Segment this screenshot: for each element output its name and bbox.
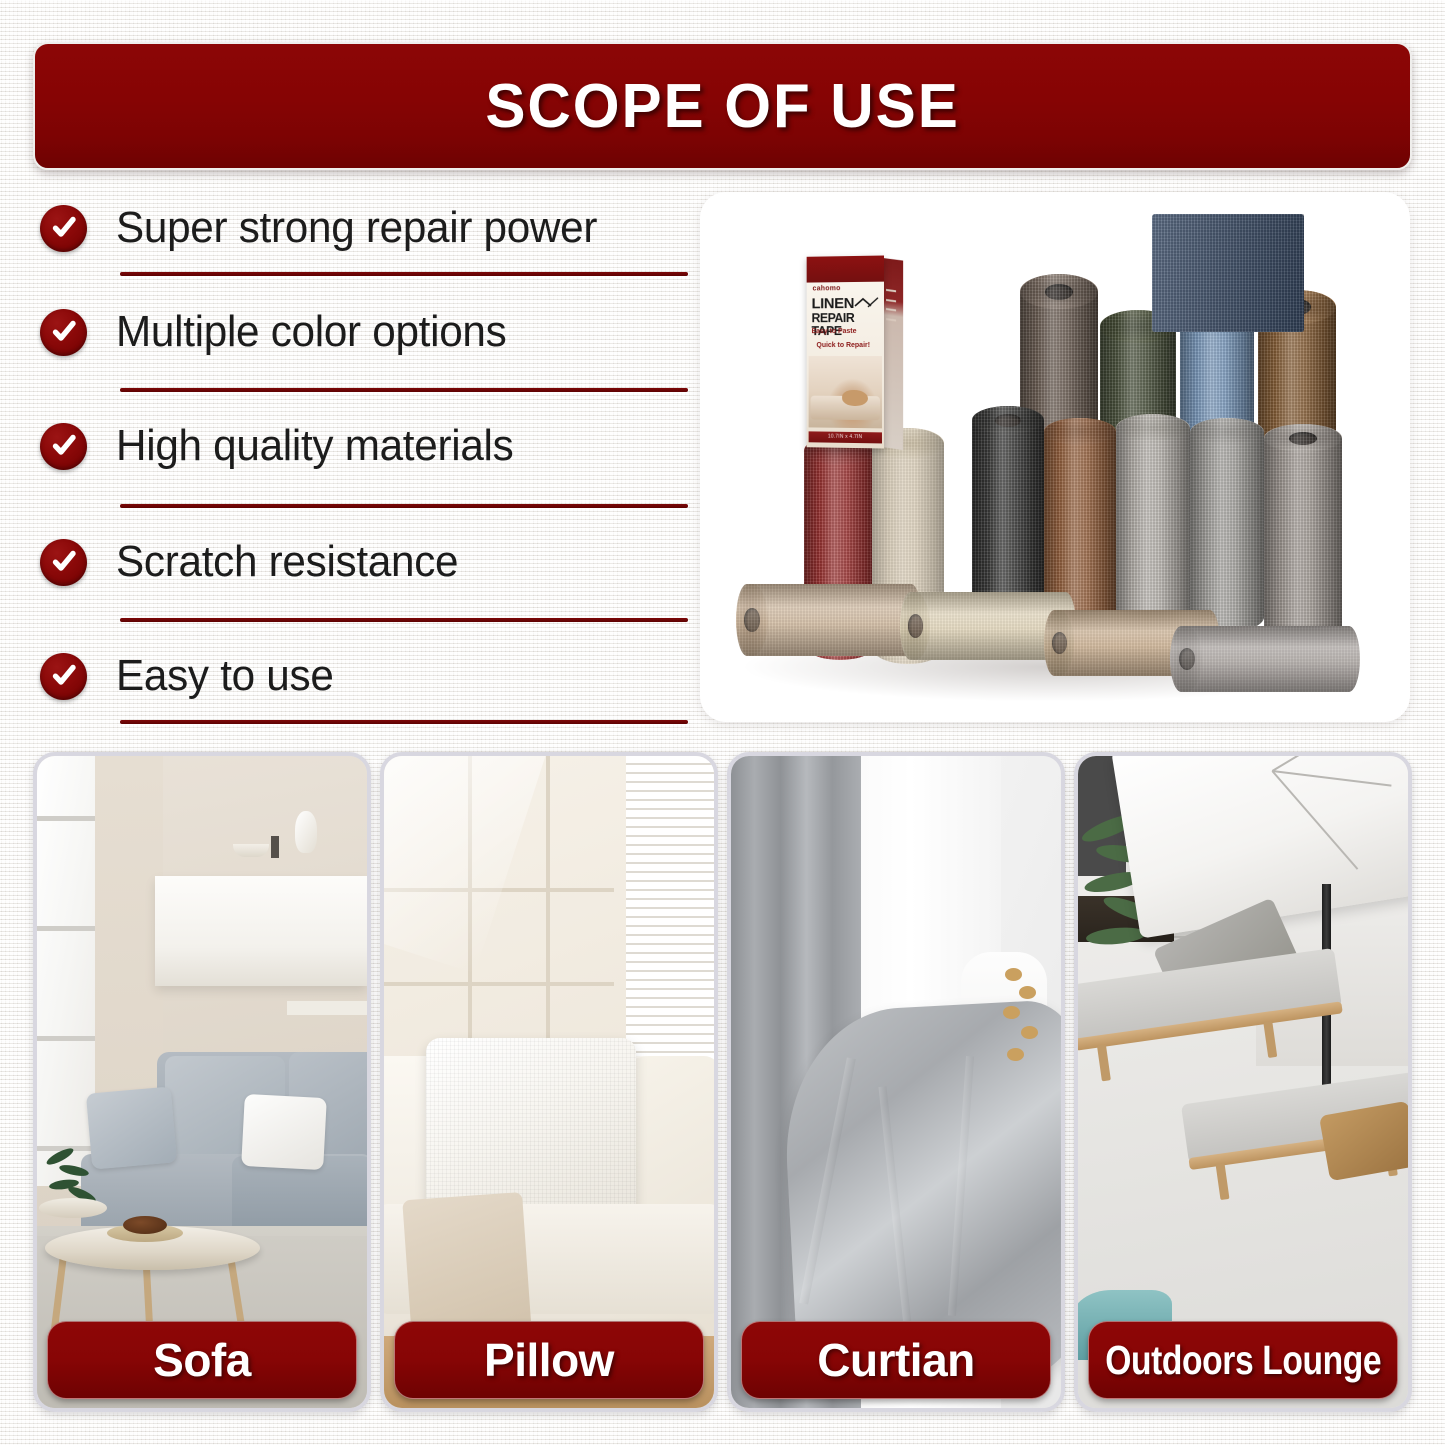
box-tagline-1: Easy to Paste: [812, 328, 857, 335]
feature-divider: [120, 272, 688, 276]
use-case-card-outdoors-lounge[interactable]: Outdoors Lounge: [1074, 752, 1412, 1412]
feature-label: Multiple color options: [116, 307, 506, 357]
use-case-card-curtain[interactable]: Curtian: [727, 752, 1065, 1412]
card-label-text: Pillow: [484, 1333, 614, 1387]
feature-item: Easy to use: [40, 640, 343, 712]
box-side-bullets: [886, 289, 901, 328]
feature-label: Easy to use: [116, 651, 334, 701]
roof-icon: [854, 295, 880, 307]
scene-pillow-on-armchair: [384, 756, 714, 1408]
box-front-panel: cahomo LINEN REPAIR TAPE Easy to Paste Q…: [807, 255, 884, 448]
box-title-line1: LINEN: [812, 296, 854, 311]
scope-of-use-banner: SCOPE OF USE: [33, 42, 1412, 170]
box-size-text: 10.7IN x 4.7IN: [809, 431, 882, 443]
feature-divider: [120, 388, 688, 392]
feature-list: Super strong repair power Multiple color…: [40, 192, 688, 722]
card-label-text: Outdoors Lounge: [1105, 1337, 1381, 1384]
feature-divider: [120, 720, 688, 724]
product-photo-card: cahomo LINEN REPAIR TAPE Easy to Paste Q…: [700, 192, 1410, 722]
feature-item: Super strong repair power: [40, 192, 617, 264]
check-circle-icon: [40, 309, 87, 356]
card-label-curtain: Curtian: [741, 1321, 1051, 1399]
card-label-pillow: Pillow: [394, 1321, 704, 1399]
product-box: cahomo LINEN REPAIR TAPE Easy to Paste Q…: [807, 255, 902, 449]
box-lifestyle-photo: [809, 356, 882, 428]
use-case-card-pillow[interactable]: Pillow: [380, 752, 718, 1412]
check-circle-icon: [40, 423, 87, 470]
scene-poolside-loungers: [1078, 756, 1408, 1408]
card-label-outdoors-lounge: Outdoors Lounge: [1088, 1321, 1398, 1399]
box-top-band: [807, 255, 884, 282]
brand-logo: cahomo: [813, 285, 841, 292]
card-label-sofa: Sofa: [47, 1321, 357, 1399]
page-title: SCOPE OF USE: [485, 71, 959, 142]
use-case-cards: Sofa Pillow: [33, 752, 1412, 1412]
feature-item: Multiple color options: [40, 296, 523, 368]
box-tagline-2: Quick to Repair!: [816, 342, 870, 349]
tape-roll-light-grey: [1116, 414, 1190, 630]
feature-item: High quality materials: [40, 410, 530, 482]
feature-label: High quality materials: [116, 421, 513, 471]
scene-grey-curtain-drape: [731, 756, 1061, 1408]
box-side-panel: [884, 258, 903, 450]
tape-roll-beige-lying: [736, 584, 922, 656]
card-label-text: Curtian: [817, 1333, 975, 1387]
tape-roll-stone-grey-lying: [1170, 626, 1360, 692]
tape-swatch-navy: [1152, 214, 1304, 332]
feature-divider: [120, 618, 688, 622]
tape-roll-grey: [1190, 418, 1264, 632]
feature-item: Scratch resistance: [40, 526, 473, 598]
card-label-text: Sofa: [153, 1333, 251, 1387]
use-case-card-sofa[interactable]: Sofa: [33, 752, 371, 1412]
feature-label: Super strong repair power: [116, 203, 597, 253]
scene-living-room-sofa: [37, 756, 367, 1408]
check-circle-icon: [40, 205, 87, 252]
tape-roll-warm-grey: [1264, 424, 1342, 642]
feature-divider: [120, 504, 688, 508]
check-circle-icon: [40, 653, 87, 700]
feature-label: Scratch resistance: [116, 537, 458, 587]
check-circle-icon: [40, 539, 87, 586]
